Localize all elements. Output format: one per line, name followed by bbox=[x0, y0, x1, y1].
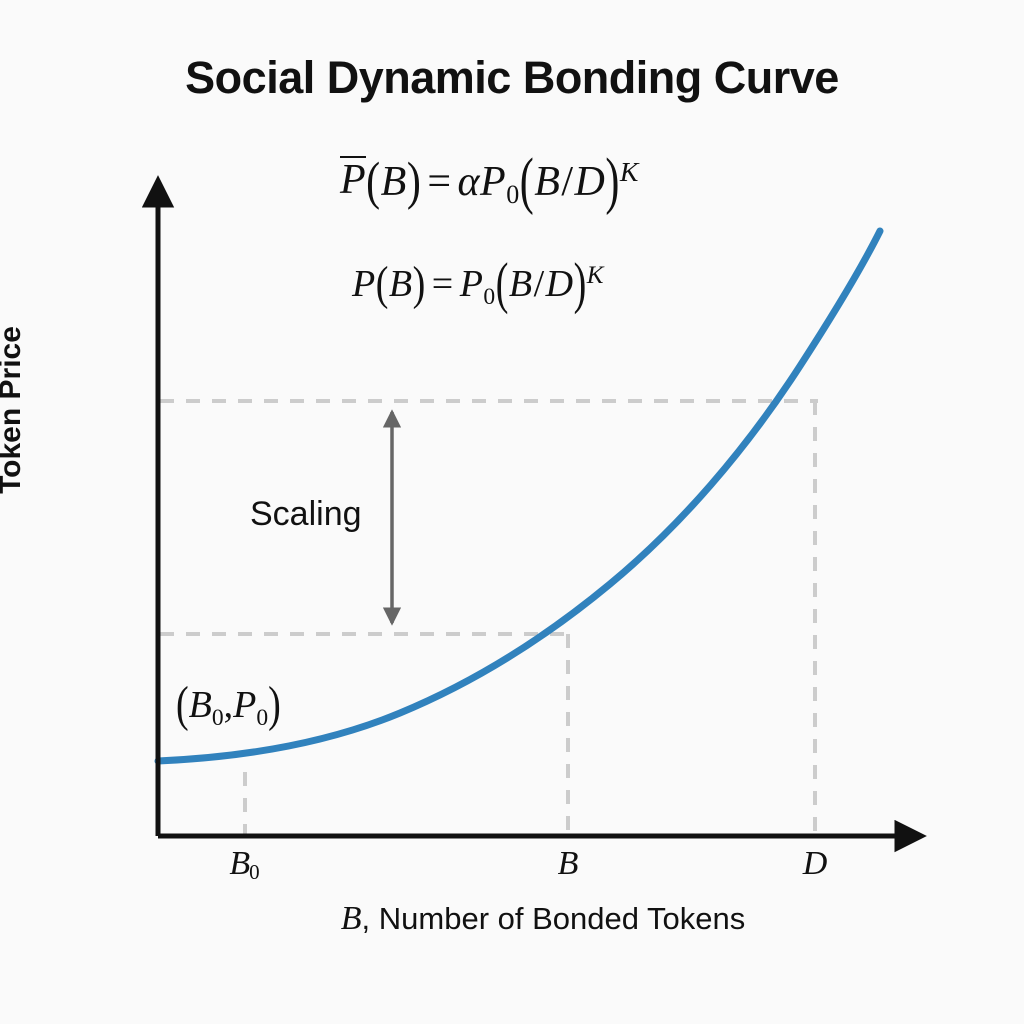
formula-base-p0-var: P bbox=[460, 263, 484, 305]
formula-base-p0-sub: 0 bbox=[483, 284, 495, 310]
formula-scaled-slash: / bbox=[560, 159, 574, 205]
x-axis-title-text: , Number of Bonded Tokens bbox=[362, 901, 746, 936]
formula-base-open-paren: ( bbox=[496, 251, 509, 317]
formula-scaled-close-paren: ) bbox=[605, 146, 620, 218]
formula-scaled-alpha: α bbox=[458, 159, 481, 205]
formula-base-equals: = bbox=[426, 263, 460, 305]
point-b-letter: B bbox=[189, 684, 212, 726]
formula-scaled-numerator: B bbox=[534, 159, 560, 205]
initial-point-annotation: (B0,P0) bbox=[176, 683, 281, 727]
formula-scaled-denominator: D bbox=[575, 159, 606, 205]
formula-base-lhs-open: ( bbox=[376, 257, 389, 312]
formula-base-slash: / bbox=[533, 263, 546, 305]
y-axis-title: Token Price bbox=[0, 280, 28, 540]
formula-scaled-price: P(B)=αP0(B/D)K bbox=[340, 158, 639, 206]
formula-scaled-equals: = bbox=[421, 159, 457, 205]
x-tick-label-b: B bbox=[508, 845, 628, 883]
formula-scaled-p0-var: P bbox=[480, 159, 506, 205]
x-tick-b0-letter: B bbox=[229, 845, 250, 882]
formula-base-close-paren: ) bbox=[574, 251, 587, 317]
formula-scaled-lhs-var: P bbox=[340, 156, 366, 201]
x-tick-d-letter: D bbox=[803, 845, 828, 882]
point-close-paren: ) bbox=[268, 676, 281, 733]
x-tick-b-letter: B bbox=[558, 845, 579, 882]
formula-base-lhs-var: P bbox=[352, 263, 376, 305]
formula-base-exponent: K bbox=[587, 262, 604, 289]
formula-base-denominator: D bbox=[546, 263, 574, 305]
formula-base-lhs-close: ) bbox=[413, 257, 426, 312]
formula-scaled-lhs-arg: B bbox=[381, 159, 407, 205]
formula-scaled-exponent: K bbox=[620, 156, 639, 187]
x-tick-label-b0: B0 bbox=[185, 845, 305, 883]
point-b-subscript: 0 bbox=[212, 705, 224, 731]
point-open-paren: ( bbox=[176, 676, 189, 733]
x-tick-label-d: D bbox=[755, 845, 875, 883]
formula-scaled-lhs-close: ) bbox=[407, 152, 422, 212]
formula-scaled-open-paren: ( bbox=[520, 146, 535, 218]
formula-scaled-p0-sub: 0 bbox=[506, 180, 520, 209]
point-p-letter: P bbox=[233, 684, 256, 726]
formula-base-lhs-arg: B bbox=[389, 263, 413, 305]
scaling-label: Scaling bbox=[250, 495, 362, 534]
point-p-subscript: 0 bbox=[256, 705, 268, 731]
bonding-curve-figure: Social Dynamic Bonding Curve bbox=[0, 0, 1024, 1024]
formula-scaled-lhs-open: ( bbox=[366, 152, 381, 212]
formula-base-price: P(B)=P0(B/D)K bbox=[352, 262, 604, 306]
x-tick-b0-subscript: 0 bbox=[249, 860, 260, 884]
x-axis-title: B, Number of Bonded Tokens bbox=[158, 900, 928, 938]
x-axis-title-variable: B bbox=[341, 900, 362, 937]
point-comma: , bbox=[224, 684, 234, 726]
formula-base-numerator: B bbox=[509, 263, 533, 305]
